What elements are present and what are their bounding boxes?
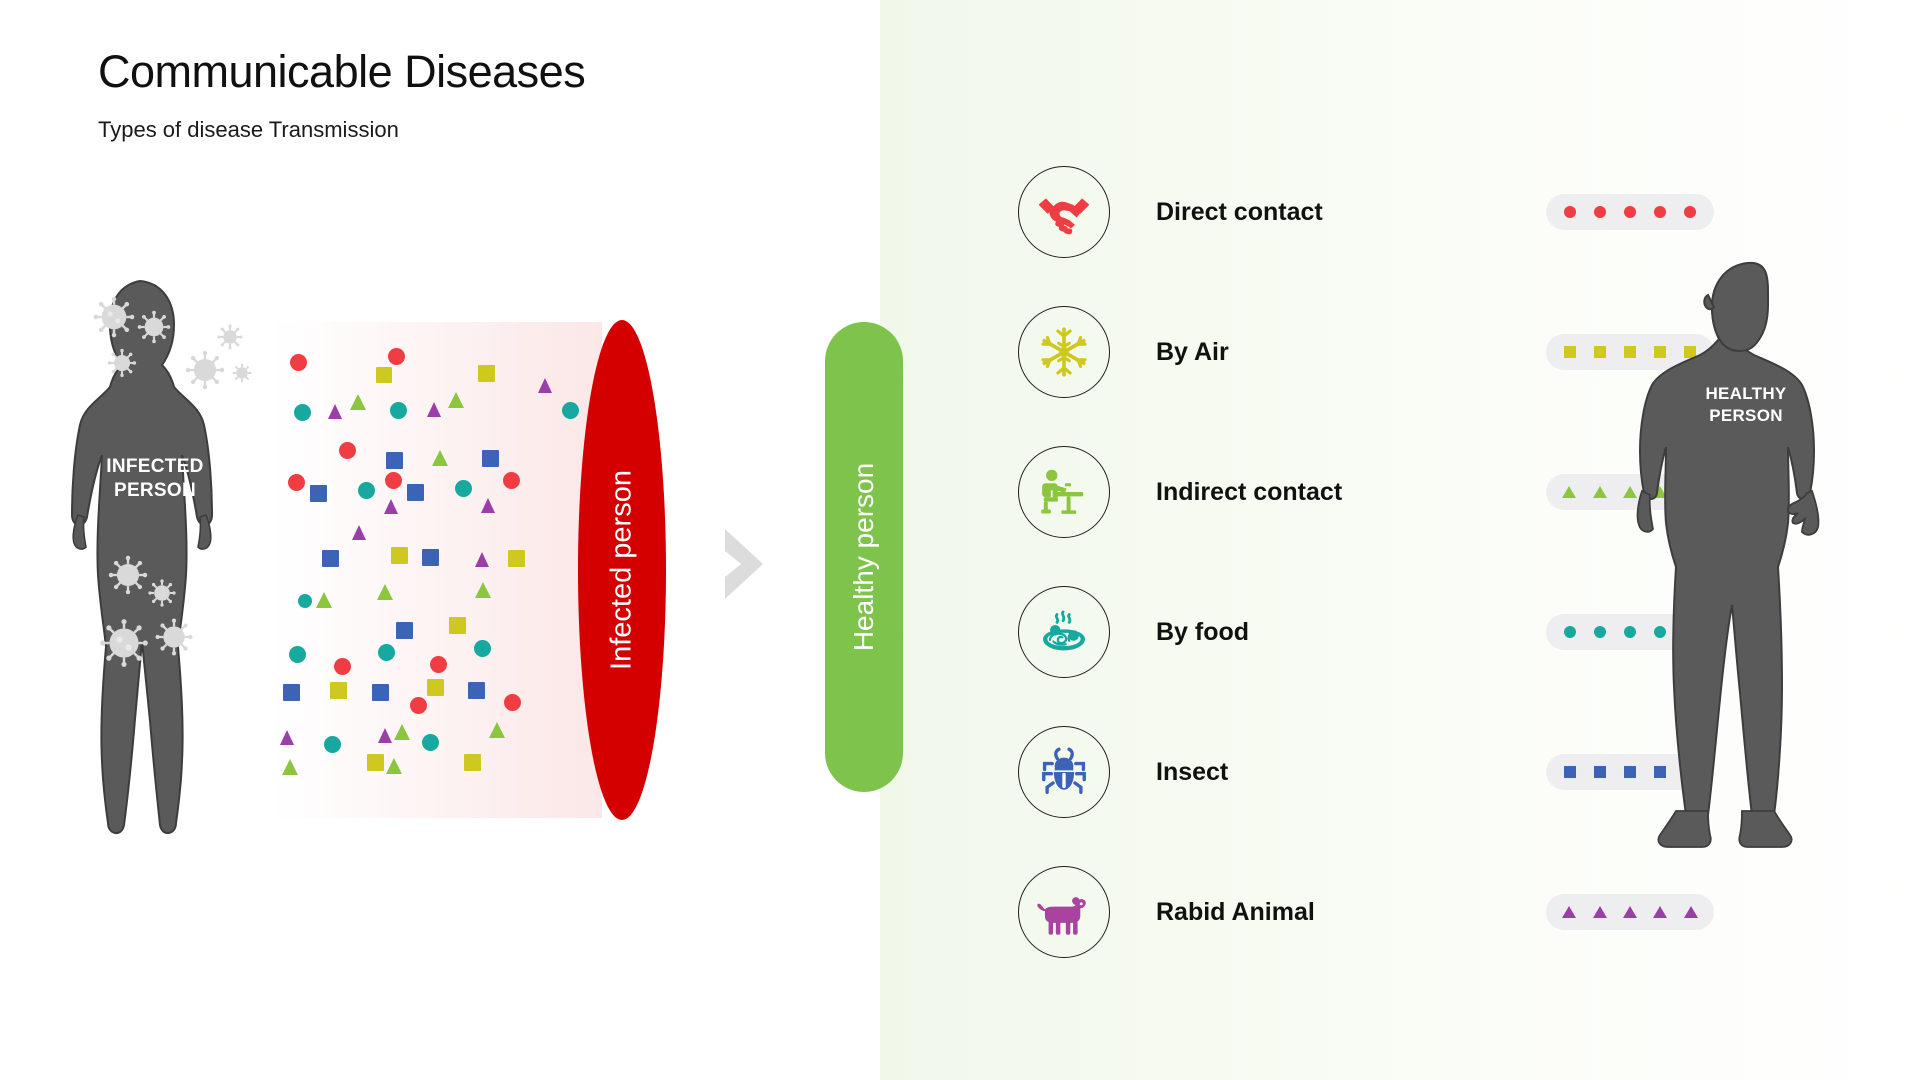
particle-square bbox=[386, 452, 403, 469]
dog-icon bbox=[1035, 883, 1093, 941]
snowflake-icon bbox=[1036, 324, 1092, 380]
page-subtitle: Types of disease Transmission bbox=[98, 117, 858, 143]
particle-square bbox=[310, 485, 327, 502]
particle-square bbox=[396, 622, 413, 639]
noodle-bowl-icon-circle[interactable] bbox=[1018, 586, 1110, 678]
particle-tri bbox=[328, 404, 342, 419]
person-at-desk-icon-circle[interactable] bbox=[1018, 446, 1110, 538]
transmission-row-by-air[interactable]: By Air bbox=[1018, 282, 1618, 422]
person-at-desk-icon bbox=[1036, 464, 1092, 520]
particle-circle bbox=[504, 694, 521, 711]
particle-tri bbox=[378, 728, 392, 743]
particle-square bbox=[427, 679, 444, 696]
transmission-label: By Air bbox=[1156, 338, 1416, 367]
marker-tri bbox=[1562, 906, 1576, 918]
transmission-arrow bbox=[723, 527, 773, 601]
particle-circle bbox=[385, 472, 402, 489]
particle-circle bbox=[358, 482, 375, 499]
healthy-person-badge: Healthy person bbox=[825, 322, 903, 792]
pathogen-particle-cloud bbox=[272, 322, 602, 818]
particle-circle bbox=[562, 402, 579, 419]
header: Communicable Diseases Types of disease T… bbox=[98, 48, 858, 143]
particle-circle bbox=[474, 640, 491, 657]
marker-circle bbox=[1654, 206, 1666, 218]
healthy-person-badge-label: Healthy person bbox=[848, 463, 880, 651]
transmission-list: Direct contact bbox=[1018, 142, 1618, 982]
marker-square bbox=[1594, 766, 1606, 778]
particle-circle bbox=[388, 348, 405, 365]
transmission-marker-chip bbox=[1546, 194, 1714, 230]
particle-tri bbox=[384, 499, 398, 514]
marker-circle bbox=[1564, 206, 1576, 218]
marker-tri bbox=[1562, 486, 1576, 498]
transmission-label: Insect bbox=[1156, 758, 1416, 787]
infographic-stage: Communicable Diseases Types of disease T… bbox=[0, 0, 1920, 1080]
infected-person-figure: INFECTED PERSON bbox=[70, 275, 300, 855]
particle-circle bbox=[298, 594, 312, 608]
particle-circle bbox=[324, 736, 341, 753]
particle-square bbox=[283, 684, 300, 701]
particle-square bbox=[478, 365, 495, 382]
transmission-label: By food bbox=[1156, 618, 1416, 647]
woman-silhouette-icon bbox=[70, 275, 300, 855]
marker-circle bbox=[1594, 626, 1606, 638]
particle-square bbox=[367, 754, 384, 771]
chevron-right-icon bbox=[723, 527, 773, 601]
transmission-row-by-food[interactable]: By food bbox=[1018, 562, 1618, 702]
infected-person-badge: Infected person bbox=[578, 320, 666, 820]
transmission-row-insect[interactable]: Insect bbox=[1018, 702, 1618, 842]
particle-circle bbox=[390, 402, 407, 419]
particle-circle bbox=[503, 472, 520, 489]
particle-square bbox=[330, 682, 347, 699]
transmission-label: Direct contact bbox=[1156, 198, 1416, 227]
marker-square bbox=[1564, 346, 1576, 358]
particle-circle bbox=[410, 697, 427, 714]
handshake-icon bbox=[1035, 183, 1093, 241]
transmission-label: Indirect contact bbox=[1156, 478, 1416, 507]
particle-tri bbox=[352, 525, 366, 540]
particle-circle bbox=[339, 442, 356, 459]
marker-circle bbox=[1684, 206, 1696, 218]
handshake-icon-circle[interactable] bbox=[1018, 166, 1110, 258]
particle-square bbox=[449, 617, 466, 634]
transmission-marker-chip bbox=[1546, 894, 1714, 930]
particle-square bbox=[468, 682, 485, 699]
particle-tri bbox=[282, 759, 298, 775]
dog-icon-circle[interactable] bbox=[1018, 866, 1110, 958]
transmission-row-direct-contact[interactable]: Direct contact bbox=[1018, 142, 1618, 282]
infected-person-badge-label: Infected person bbox=[606, 470, 639, 670]
particle-square bbox=[376, 367, 392, 383]
particle-tri bbox=[350, 394, 366, 410]
particle-circle bbox=[430, 656, 447, 673]
particle-square bbox=[508, 550, 525, 567]
man-silhouette-icon bbox=[1630, 255, 1880, 875]
particle-tri bbox=[377, 584, 393, 600]
beetle-icon bbox=[1037, 745, 1091, 799]
particle-circle bbox=[289, 646, 306, 663]
particle-tri bbox=[427, 402, 441, 417]
particle-tri bbox=[316, 592, 332, 608]
particle-tri bbox=[448, 392, 464, 408]
particle-tri bbox=[394, 724, 410, 740]
particle-circle bbox=[422, 734, 439, 751]
noodle-bowl-icon bbox=[1036, 604, 1092, 660]
marker-tri bbox=[1653, 906, 1667, 918]
marker-tri bbox=[1593, 906, 1607, 918]
healthy-person-figure: HEALTHY PERSON bbox=[1630, 255, 1880, 875]
particle-square bbox=[372, 684, 389, 701]
particle-square bbox=[482, 450, 499, 467]
particle-circle bbox=[378, 644, 395, 661]
particle-square bbox=[407, 484, 424, 501]
marker-circle bbox=[1594, 206, 1606, 218]
particle-tri bbox=[475, 582, 491, 598]
snowflake-icon-circle[interactable] bbox=[1018, 306, 1110, 398]
marker-square bbox=[1564, 766, 1576, 778]
particle-tri bbox=[481, 498, 495, 513]
particle-square bbox=[391, 547, 408, 564]
marker-circle bbox=[1564, 626, 1576, 638]
particle-square bbox=[422, 549, 439, 566]
transmission-row-rabid-animal[interactable]: Rabid Animal bbox=[1018, 842, 1618, 982]
particle-square bbox=[464, 754, 481, 771]
particle-circle bbox=[290, 354, 307, 371]
marker-tri bbox=[1593, 486, 1607, 498]
marker-tri bbox=[1623, 906, 1637, 918]
transmission-label: Rabid Animal bbox=[1156, 898, 1416, 927]
beetle-icon-circle[interactable] bbox=[1018, 726, 1110, 818]
marker-square bbox=[1594, 346, 1606, 358]
particle-tri bbox=[489, 722, 505, 738]
particle-square bbox=[322, 550, 339, 567]
particle-circle bbox=[294, 404, 311, 421]
particle-tri bbox=[386, 758, 402, 774]
particle-circle bbox=[334, 658, 351, 675]
marker-tri bbox=[1684, 906, 1698, 918]
particle-tri bbox=[280, 730, 294, 745]
marker-circle bbox=[1624, 206, 1636, 218]
particle-tri bbox=[475, 552, 489, 567]
particle-circle bbox=[288, 474, 305, 491]
page-title: Communicable Diseases bbox=[98, 48, 858, 95]
particle-tri bbox=[432, 450, 448, 466]
particle-circle bbox=[455, 480, 472, 497]
particle-tri bbox=[538, 378, 552, 393]
transmission-row-indirect-contact[interactable]: Indirect contact bbox=[1018, 422, 1618, 562]
